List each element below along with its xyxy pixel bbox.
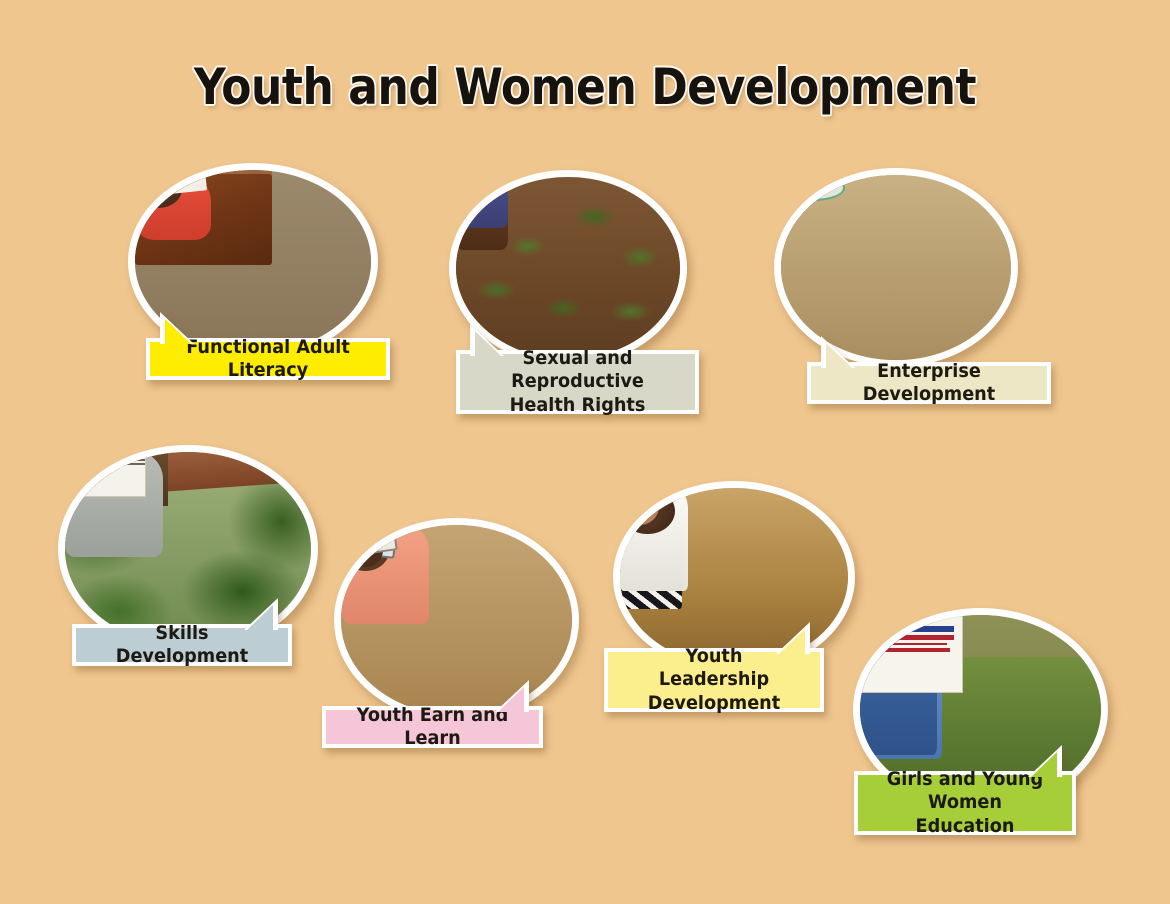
- label-skills-development[interactable]: Skills Development: [72, 624, 292, 666]
- label-enterprise-development[interactable]: Enterprise Development: [807, 362, 1051, 404]
- page-title: Youth and Women Development: [70, 58, 1100, 116]
- label-sexual-and-reproductive-health-rights[interactable]: Sexual and Reproductive Health Rights: [456, 350, 699, 414]
- callout-tail-icon: [475, 331, 501, 356]
- ycs-club-sign: [860, 615, 963, 693]
- callout-tail-icon: [826, 343, 852, 368]
- photo-oval-youth-earn-and-learn: [334, 518, 579, 722]
- photo-oval-enterprise-development: [774, 168, 1018, 367]
- label-youth-earn-and-learn[interactable]: Youth Earn and Learn: [322, 706, 543, 748]
- label-functional-adult-literacy[interactable]: Functional Adult Literacy: [146, 338, 390, 380]
- label-youth-leadership-development[interactable]: Youth Leadership Development: [604, 648, 824, 712]
- callout-tail-icon: [498, 687, 524, 712]
- callout-tail-icon: [1031, 752, 1057, 777]
- label-girls-and-young-women-education[interactable]: Girls and Young Women Education: [854, 771, 1076, 835]
- callout-tail-icon: [779, 629, 805, 654]
- poster-canvas: Youth and Women Development Functional A…: [0, 0, 1170, 904]
- callout-tail-icon: [247, 605, 273, 630]
- callout-tail-icon: [165, 319, 191, 344]
- thank-you-sign: [65, 452, 146, 497]
